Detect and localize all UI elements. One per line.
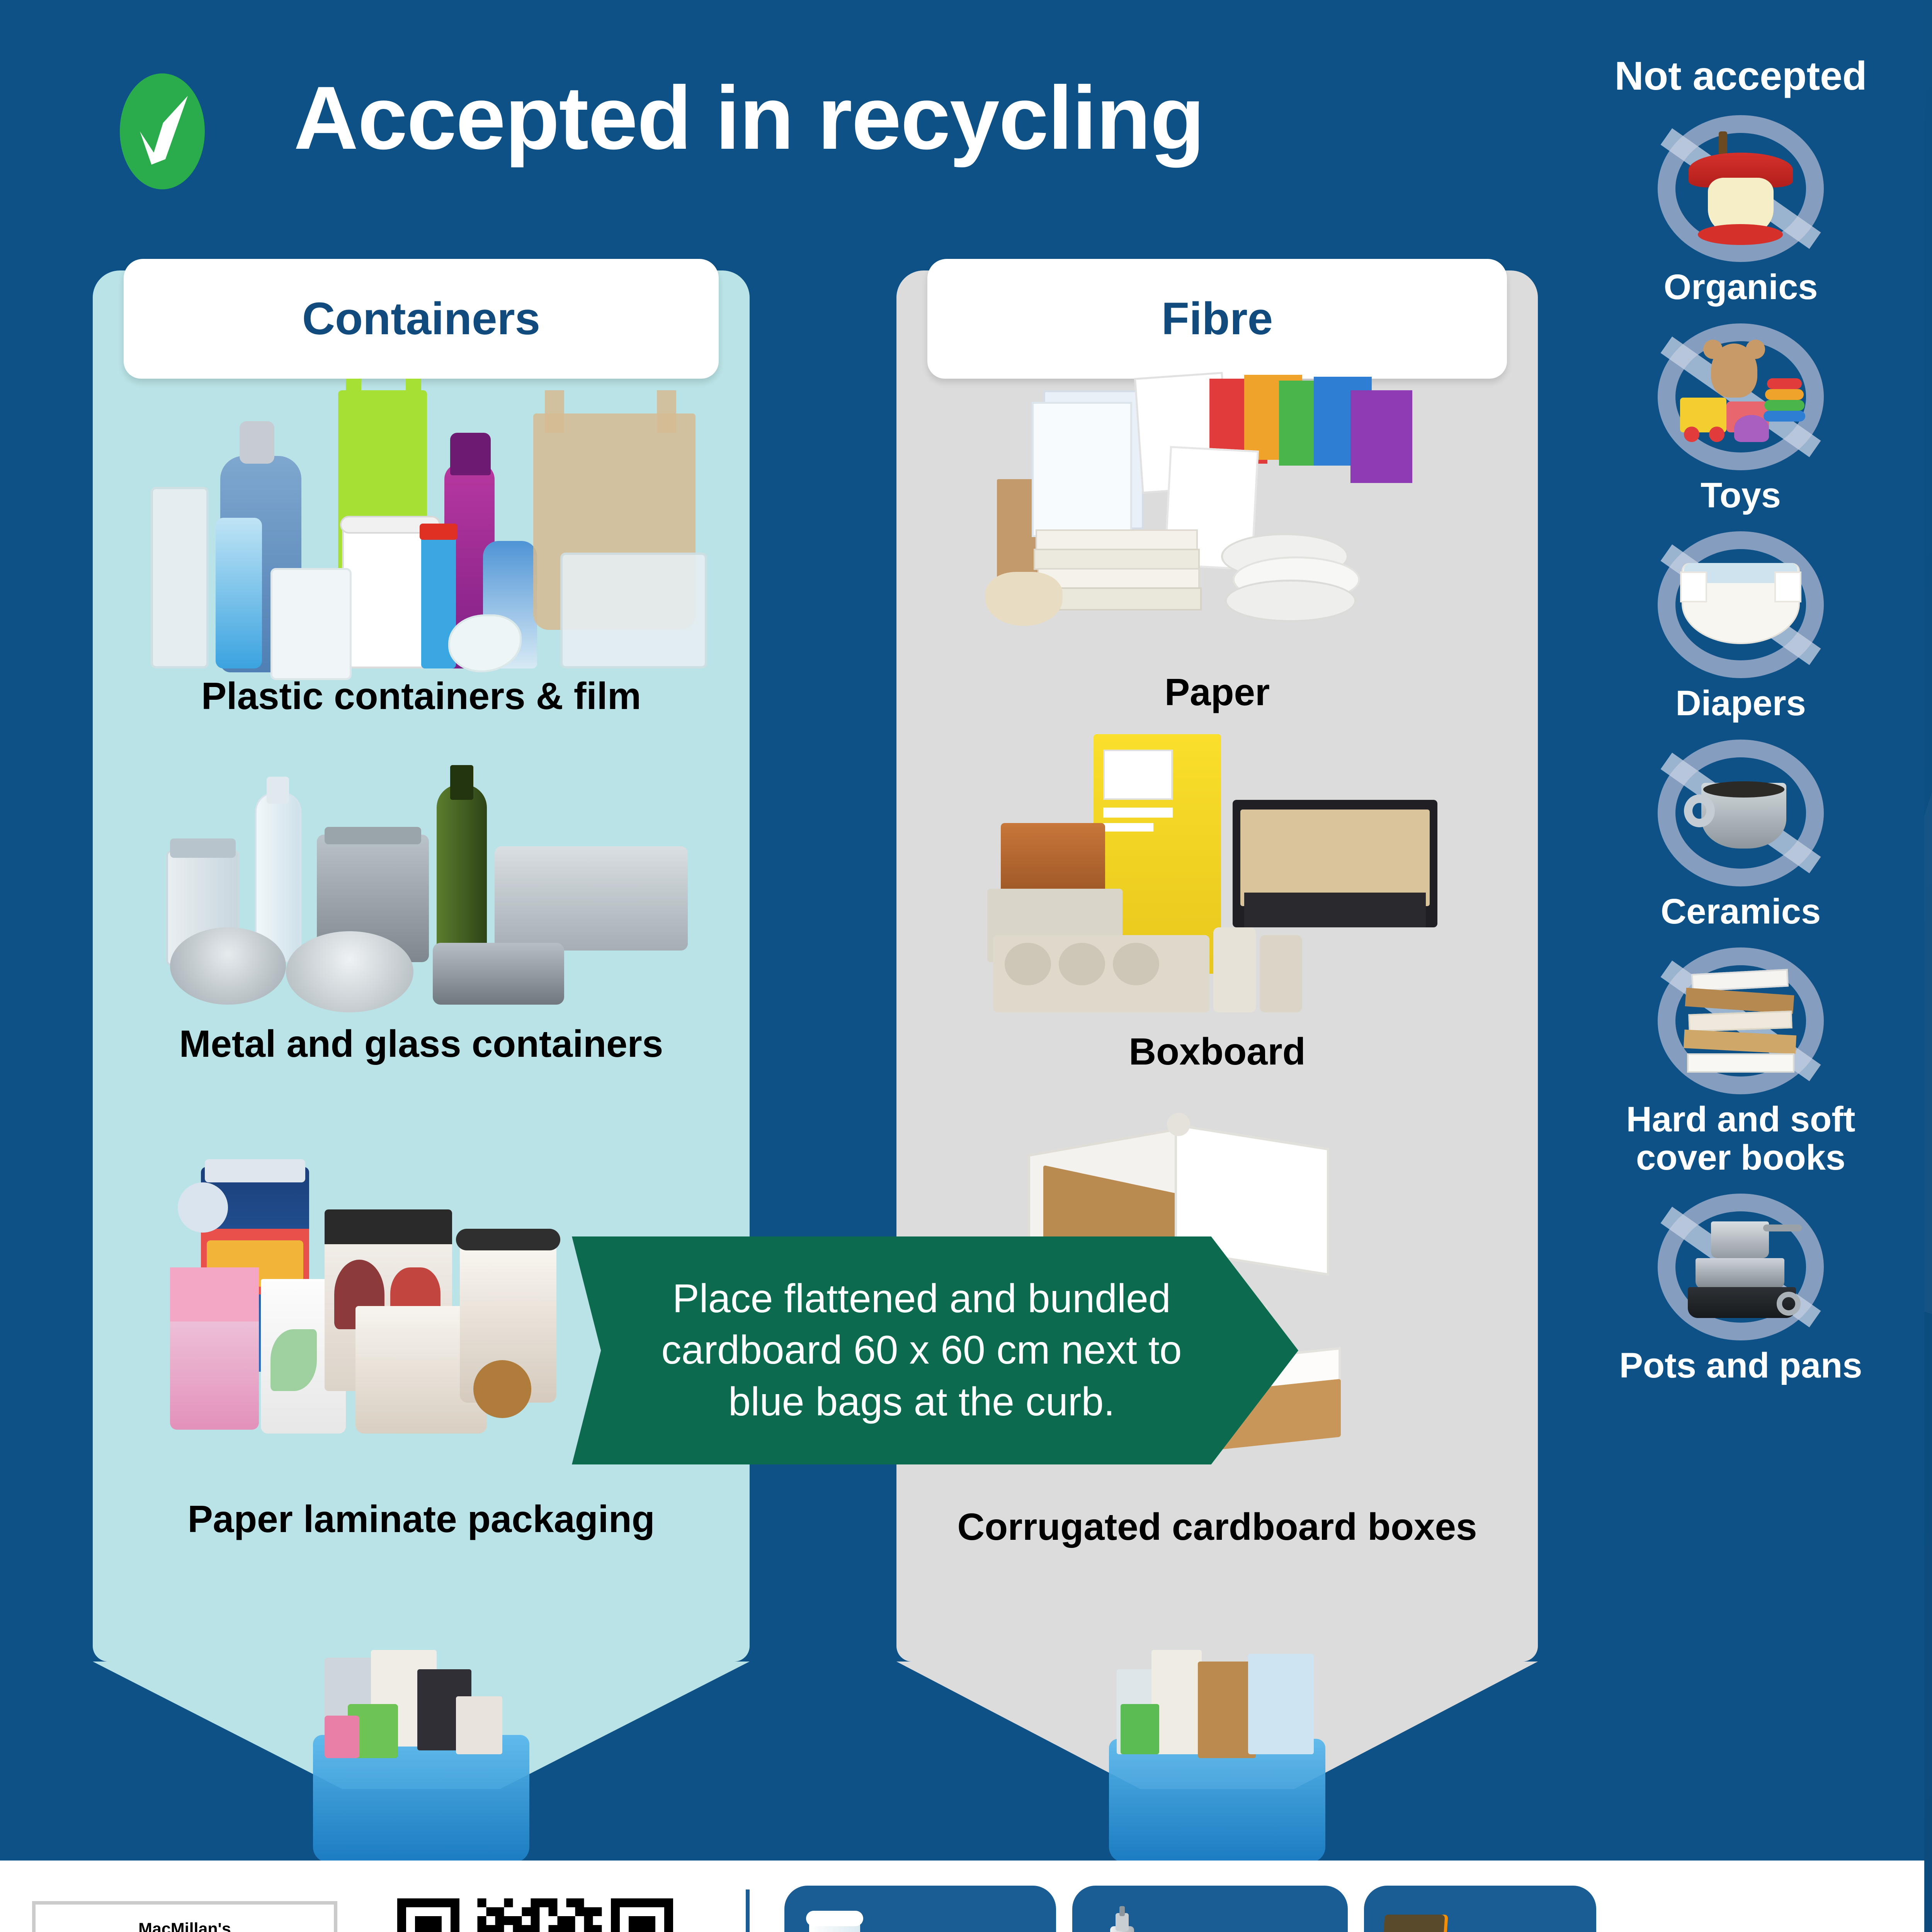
flexible-plastic-bag-icon (1377, 1903, 1451, 1932)
depot-info-text: MacMillan's Recycling Depot 164 Old Road… (89, 1918, 281, 1932)
category-label: Boxboard (896, 1032, 1538, 1072)
callout-text: Place flattened and bundled cardboard 60… (634, 1273, 1209, 1427)
books-stack-icon (1680, 964, 1801, 1078)
foam-cup-icon (798, 1903, 871, 1932)
pots-and-pans-icon (1680, 1210, 1801, 1324)
not-accepted-item-toys: Toys (1577, 323, 1905, 514)
category-boxboard: Boxboard (896, 726, 1538, 1072)
page-title: Accepted in recycling (294, 73, 1204, 163)
not-accepted-column: Not accepted Organics (1577, 54, 1905, 1384)
not-accepted-item-organics: Organics (1577, 115, 1905, 306)
category-label: Paper (896, 672, 1538, 713)
boxboard-photo (927, 726, 1507, 1032)
dropoff-chip-flexible[interactable]: Flexible plastics (1364, 1886, 1596, 1932)
not-accepted-label: Toys (1577, 476, 1905, 514)
not-accepted-label: Pots and pans (1577, 1347, 1905, 1384)
not-accepted-item-diapers: Diapers (1577, 531, 1905, 722)
not-accepted-item-books: Hard and soft cover books (1577, 947, 1905, 1177)
not-accepted-item-ceramics: Ceramics (1577, 740, 1905, 930)
apple-core-icon (1680, 131, 1801, 246)
stream-fibre: Fibre (896, 270, 1538, 1789)
category-metal-glass: Metal and glass containers (93, 761, 750, 1064)
qr-code-icon[interactable] (381, 1889, 690, 1932)
right-panel-background (1924, 0, 1932, 1932)
cardboard-callout-banner: Place flattened and bundled cardboard 60… (572, 1236, 1298, 1464)
category-paper: Paper (896, 367, 1538, 713)
category-label: Metal and glass containers (93, 1024, 750, 1064)
depot-info-box: MacMillan's Recycling Depot 164 Old Road… (32, 1901, 337, 1932)
toys-icon (1680, 340, 1801, 454)
not-accepted-item-pots-pans: Pots and pans (1577, 1194, 1905, 1384)
ceramic-mug-icon (1680, 756, 1801, 870)
dropoff-chip-foam[interactable]: Foam packaging (784, 1886, 1056, 1932)
stream-tab-containers: Containers (124, 259, 719, 379)
not-accepted-label: Diapers (1577, 684, 1905, 722)
aerosol-can-icon (1085, 1903, 1159, 1932)
dropoff-chip-aerosol[interactable]: Aerosol containers (1072, 1886, 1348, 1932)
plastic-containers-photo (124, 367, 719, 676)
dropoff-chips: Foam packaging Aerosol containers Flexib… (784, 1886, 1866, 1932)
not-accepted-heading: Not accepted (1577, 54, 1905, 98)
not-accepted-label: Organics (1577, 268, 1905, 306)
paper-stack-photo (927, 367, 1507, 672)
category-label: Paper laminate packaging (93, 1499, 750, 1539)
not-accepted-label: Ceramics (1577, 893, 1905, 930)
category-plastic-containers: Plastic containers & film (93, 367, 750, 716)
blue-recycling-bag-fibre (1086, 1646, 1349, 1862)
vertical-divider (746, 1889, 750, 1932)
stream-tab-fibre: Fibre (927, 259, 1507, 379)
stream-containers: Containers (93, 270, 750, 1789)
diaper-icon (1680, 548, 1801, 662)
metal-glass-containers-photo (124, 761, 719, 1024)
category-label: Plastic containers & film (93, 676, 750, 716)
recycling-guide-page: Accepted in recycling Containers (0, 0, 1932, 1932)
blue-recycling-bag-containers (290, 1646, 553, 1862)
not-accepted-label: Hard and soft cover books (1577, 1100, 1905, 1177)
check-circle-icon (120, 73, 205, 189)
category-label: Corrugated cardboard boxes (896, 1507, 1538, 1547)
